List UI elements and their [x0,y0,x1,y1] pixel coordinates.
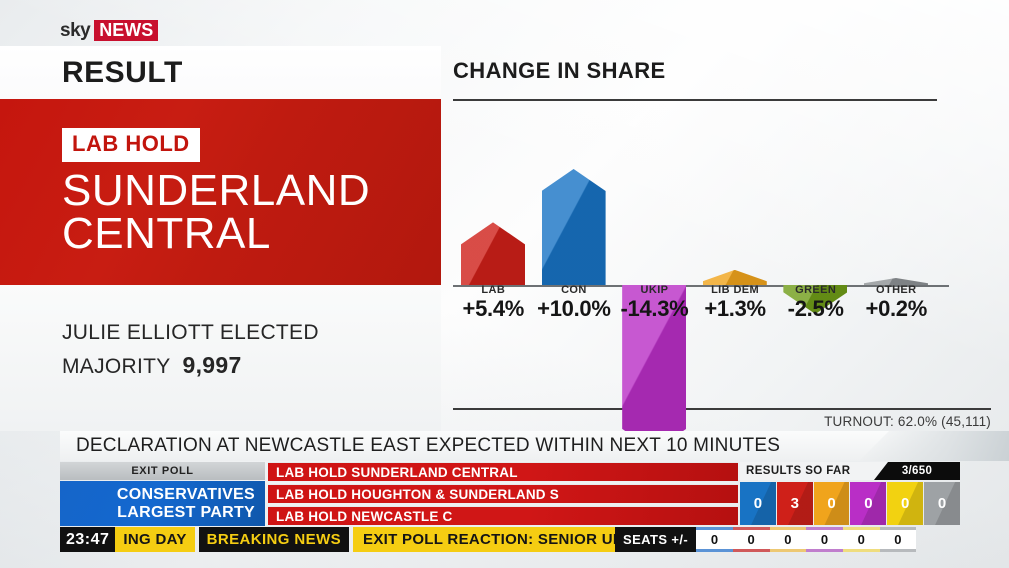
news-ticker: 23:47 ING DAY BREAKING NEWS EXIT POLL RE… [0,527,1009,552]
chart-category-labels: LAB+5.4%CON+10.0%UKIP-14.3%LIB DEM+1.3%G… [453,285,937,320]
party-change-value: -14.3% [614,297,695,320]
bar-sheen [461,222,525,285]
bar-sheen [542,169,606,285]
chart-bar-ukip [614,104,695,404]
result-panel: RESULT LAB HOLD SUNDERLAND CENTRAL JULIE… [0,46,441,431]
chart-title: CHANGE IN SHARE [453,58,666,84]
declaration-row: LAB HOLD SUNDERLAND CENTRAL [268,462,738,481]
result-seat-block: LAB HOLD SUNDERLAND CENTRAL [0,99,441,285]
exit-poll-prediction: CONSERVATIVES LARGEST PARTY [60,481,265,526]
seat-change-other: 0 [880,527,917,552]
ticker-left-text: ING DAY [115,527,194,552]
chart-bar-other [856,104,937,404]
seat-name: SUNDERLAND CENTRAL [62,170,441,255]
elected-member: JULIE ELLIOTT ELECTED [62,321,441,345]
chart-label-green: GREEN-2.5% [775,285,856,320]
logo-sky-text: sky [60,21,90,40]
seat-change-con: 0 [696,527,733,552]
chart-top-rule [453,99,937,101]
ticker-story: EXIT POLL REACTION: SENIOR UKIP SOURC [353,527,615,552]
results-so-far-label: RESULTS SO FAR [740,462,874,480]
exit-poll-block: EXIT POLL CONSERVATIVES LARGEST PARTY [60,462,265,525]
result-header: RESULT [0,46,441,99]
results-so-far-header: RESULTS SO FAR 3/650 [740,462,960,480]
chart-label-ukip: UKIP-14.3% [614,285,695,320]
chart-plot-area [453,104,937,404]
party-name: LIB DEM [695,285,776,296]
chart-label-lib-dem: LIB DEM+1.3% [695,285,776,320]
party-name: OTHER [856,285,937,296]
seats-change-label: SEATS +/- [615,527,696,552]
party-name: UKIP [614,285,695,296]
chart-label-lab: LAB+5.4% [453,285,534,320]
results-so-far-count: 3/650 [874,462,960,480]
party-name: LAB [453,285,534,296]
exit-poll-header: EXIT POLL [60,462,265,480]
seats-change-cells: 000000 [696,527,916,552]
bar-shape-lab [461,222,525,285]
result-heading: RESULT [62,56,183,90]
sky-news-logo: sky NEWS [60,20,158,41]
party-name: CON [534,285,615,296]
banner-headline: DECLARATION AT NEWCASTLE EAST EXPECTED W… [60,435,780,457]
seat-change-lab: 0 [733,527,770,552]
exit-poll-line2: LARGEST PARTY [117,504,255,522]
breaking-news-badge: BREAKING NEWS [199,527,349,552]
results-so-far-block: RESULTS SO FAR 3/650 030000 [740,462,960,525]
declaration-row: LAB HOLD NEWCASTLE C [268,506,738,525]
majority: MAJORITY 9,997 [62,352,441,379]
party-name: GREEN [775,285,856,296]
seat-change-lib-dem: 0 [770,527,807,552]
bottom-banner: DECLARATION AT NEWCASTLE EAST EXPECTED W… [0,431,1009,568]
exit-poll-line1: CONSERVATIVES [117,486,255,504]
party-change-value: -2.5% [775,297,856,320]
chart-bar-con [534,104,615,404]
declaration-row: LAB HOLD HOUGHTON & SUNDERLAND S [268,484,738,503]
party-change-value: +1.3% [695,297,776,320]
party-change-value: +0.2% [856,297,937,320]
chart-bar-green [775,104,856,404]
banner-wedge [859,431,1009,461]
chart-label-con: CON+10.0% [534,285,615,320]
ticker-clock: 23:47 [60,527,115,552]
bar-shape-lib-dem [703,270,767,285]
chart-bar-lib-dem [695,104,776,404]
chart-bars [453,104,937,404]
seat-count-snp: 0 [887,482,923,525]
chart-bar-lab [453,104,534,404]
declaration-list: LAB HOLD SUNDERLAND CENTRALLAB HOLD HOUG… [268,462,738,525]
seat-count-ukip: 0 [850,482,886,525]
turnout-text: TURNOUT: 62.0% (45,111) [824,414,991,429]
banner-headline-bar: DECLARATION AT NEWCASTLE EAST EXPECTED W… [60,431,1009,461]
seat-count-other: 0 [924,482,960,525]
seat-count-lib-dem: 0 [814,482,850,525]
seat-count-lab: 3 [777,482,813,525]
status-badge: LAB HOLD [62,128,200,162]
result-footer: JULIE ELLIOTT ELECTED MAJORITY 9,997 [0,285,441,431]
majority-value: 9,997 [182,352,241,378]
seat-name-line2: CENTRAL [62,213,441,256]
change-in-share-panel: CHANGE IN SHARE LAB+5.4%CON+10.0%UKIP-14… [441,46,1009,431]
chart-bottom-rule [453,408,991,410]
party-change-value: +5.4% [453,297,534,320]
sky-news-election-graphic: sky NEWS RESULT LAB HOLD SUNDERLAND CENT… [0,0,1009,568]
seat-name-line1: SUNDERLAND [62,170,441,213]
chart-label-other: OTHER+0.2% [856,285,937,320]
banner-rows: EXIT POLL CONSERVATIVES LARGEST PARTY LA… [0,462,1009,525]
seat-change-snp: 0 [843,527,880,552]
results-so-far-cells: 030000 [740,482,960,525]
bar-sheen [703,270,767,285]
party-change-value: +10.0% [534,297,615,320]
seat-change-ukip: 0 [806,527,843,552]
majority-label: MAJORITY [62,355,170,378]
logo-news-badge: NEWS [94,20,158,41]
bar-shape-con [542,169,606,285]
seat-count-con: 0 [740,482,776,525]
